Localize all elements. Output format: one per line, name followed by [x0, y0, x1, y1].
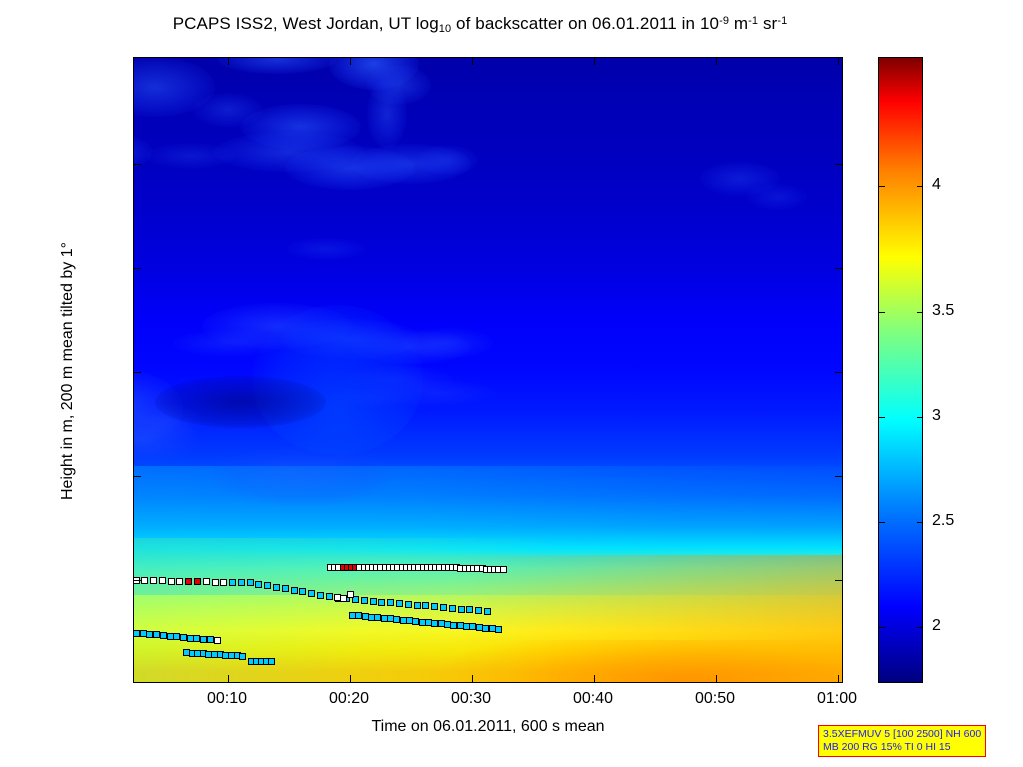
colorbar-tick	[917, 522, 923, 523]
mixing-height-marker	[168, 578, 175, 585]
x-axis-tick	[838, 675, 839, 682]
y-axis-tick	[835, 476, 842, 477]
title-exponent-m: -1	[748, 15, 758, 27]
mixing-height-marker	[387, 599, 394, 606]
colorbar-tick-label: 3	[932, 407, 941, 425]
y-axis-tick	[134, 580, 141, 581]
mixing-height-marker	[317, 592, 324, 599]
colorbar-tick	[879, 312, 885, 313]
backscatter-heatmap-image	[134, 58, 842, 682]
title-prefix: PCAPS ISS2, West Jordan, UT log	[173, 14, 439, 33]
x-axis-tick	[594, 675, 595, 682]
title-exponent-sr: -1	[777, 15, 787, 27]
mixing-height-marker	[273, 584, 280, 591]
x-axis-tick-label: 01:00	[792, 690, 882, 708]
mixing-height-marker	[150, 577, 157, 584]
colorbar-tick-label: 4	[932, 176, 941, 194]
x-axis-tick-label: 00:30	[426, 690, 516, 708]
x-axis-tick	[350, 58, 351, 65]
colorbar-tick	[917, 627, 923, 628]
colorbar-tick-label: 2.5	[932, 512, 954, 530]
heatmap-plot-area[interactable]	[133, 57, 843, 683]
mixing-height-marker	[247, 579, 254, 586]
mixing-height-marker	[282, 585, 289, 592]
mixing-height-marker	[378, 599, 385, 606]
mixing-height-marker	[185, 578, 192, 585]
x-axis-tick	[350, 675, 351, 682]
colorbar-tick	[879, 522, 885, 523]
x-axis-tick	[472, 675, 473, 682]
x-axis-title: Time on 06.01.2011, 600 s mean	[133, 718, 843, 736]
title-log-subscript: 10	[439, 23, 451, 35]
mixing-height-marker	[449, 605, 456, 612]
x-axis-tick	[716, 675, 717, 682]
x-axis-tick	[716, 58, 717, 65]
mixing-height-marker	[440, 604, 447, 611]
heatmap-feature-blob	[286, 238, 366, 260]
y-axis-tick	[134, 372, 141, 373]
mixing-height-marker	[405, 601, 412, 608]
low-layer-marker	[268, 658, 275, 665]
y-axis-title: Height in m, 200 m mean tilted by 1°	[59, 91, 77, 651]
x-axis-tick-label: 00:10	[182, 690, 272, 708]
colorbar-tick	[879, 417, 885, 418]
colorbar-tick	[879, 186, 885, 187]
x-axis-tick	[228, 675, 229, 682]
x-axis-tick-label: 00:20	[304, 690, 394, 708]
mixing-height-marker	[422, 602, 429, 609]
x-axis-tick	[472, 58, 473, 65]
title-exponent-9: -9	[719, 15, 729, 27]
residual-layer-marker	[500, 566, 507, 573]
mixing-height-marker	[431, 603, 438, 610]
settings-annotation-box: 3.5XEFMUV 5 [100 2500] NH 600 MB 200 RG …	[818, 725, 986, 757]
mixing-height-marker	[141, 577, 148, 584]
y-axis-tick	[134, 476, 141, 477]
mixing-height-marker	[291, 587, 298, 594]
heatmap-dark-notch	[155, 376, 326, 428]
heatmap-feature-blob	[146, 143, 236, 169]
isolated-marker	[347, 591, 354, 598]
colorbar-tick-label: 3.5	[932, 302, 954, 320]
x-axis-tick	[594, 58, 595, 65]
mixing-height-marker	[229, 579, 236, 586]
mixing-height-marker	[159, 577, 166, 584]
title-unit-m: m	[729, 14, 748, 33]
heatmap-feature-blob	[367, 79, 407, 149]
mixing-height-marker	[299, 588, 306, 595]
mixing-height-marker	[458, 606, 465, 613]
y-axis-tick	[835, 164, 842, 165]
colorbar-tick	[917, 312, 923, 313]
mixing-height-marker	[370, 598, 377, 605]
y-axis-tick	[835, 580, 842, 581]
mixing-height-marker	[264, 582, 271, 589]
mixing-height-marker	[238, 579, 245, 586]
mixing-height-marker	[396, 600, 403, 607]
heatmap-feature-blob	[211, 446, 391, 506]
mixing-height-marker	[361, 597, 368, 604]
mixing-height-marker	[484, 608, 491, 615]
heatmap-feature-blob	[418, 145, 478, 175]
x-axis-tick-label: 00:40	[548, 690, 638, 708]
x-axis-tick	[838, 58, 839, 65]
mixing-height-marker	[466, 606, 473, 613]
colorbar-tick-label: 2	[932, 617, 941, 635]
colorbar[interactable]	[878, 57, 923, 683]
title-mid: of backscatter on 06.01.2011 in 10	[451, 14, 719, 33]
colorbar-tick	[879, 627, 885, 628]
mixing-height-marker	[326, 593, 333, 600]
x-axis-tick	[228, 58, 229, 65]
lower-mixing-marker	[214, 637, 221, 644]
y-axis-tick	[835, 372, 842, 373]
y-axis-tick	[134, 164, 141, 165]
colorbar-tick	[917, 417, 923, 418]
mixing-height-marker	[255, 581, 262, 588]
mixing-height-marker	[194, 578, 201, 585]
annotation-line-2: MB 200 RG 15% TI 0 HI 15	[823, 741, 981, 754]
mixing-height-marker	[203, 578, 210, 585]
mixing-height-marker	[308, 590, 315, 597]
page-title: PCAPS ISS2, West Jordan, UT log10 of bac…	[0, 14, 960, 35]
mixing-height-marker	[212, 579, 219, 586]
mixing-height-marker	[475, 607, 482, 614]
mixing-height-marker	[495, 626, 502, 633]
y-axis-tick	[134, 268, 141, 269]
mixing-height-marker	[220, 579, 227, 586]
colorbar-tick	[917, 186, 923, 187]
mixing-height-marker	[414, 602, 421, 609]
mixing-height-marker	[176, 578, 183, 585]
low-layer-marker	[239, 653, 246, 660]
y-axis-tick	[835, 268, 842, 269]
title-unit-sr: sr	[758, 14, 777, 33]
annotation-line-1: 3.5XEFMUV 5 [100 2500] NH 600	[823, 728, 981, 741]
x-axis-tick-label: 00:50	[670, 690, 760, 708]
